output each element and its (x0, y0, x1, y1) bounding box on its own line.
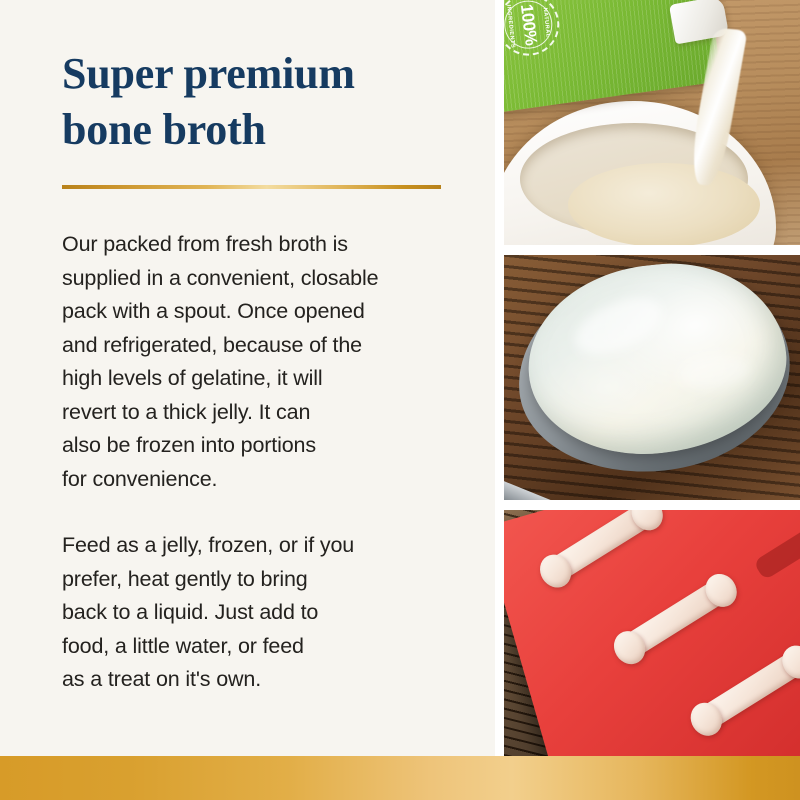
paragraph-product-description: Our packed from fresh broth is supplied … (62, 228, 462, 496)
photo-bone-mould (504, 510, 800, 756)
footer-gold-bar (0, 756, 800, 800)
paragraph-line: high levels of gelatine, it will (62, 362, 462, 396)
photo-pouring-broth: NATURAL 100% INGREDIENTS (504, 0, 800, 245)
frozen-broth-bone (547, 510, 655, 582)
jelly-highlight-secondary (678, 351, 751, 392)
broth-liquid (568, 163, 760, 245)
paragraph-line: and refrigerated, because of the (62, 329, 462, 363)
paragraph-line: Feed as a jelly, frozen, or if you (62, 529, 462, 563)
gold-divider (62, 185, 441, 189)
jelly-highlight (567, 286, 670, 365)
seal-word-bottom: INGREDIENTS (505, 4, 516, 48)
natural-ingredients-seal-icon: NATURAL 100% INGREDIENTS (504, 0, 562, 59)
paragraph-line: food, a little water, or feed (62, 630, 462, 664)
photo-jelly-spoon (504, 255, 800, 500)
seal-word-top: NATURAL (542, 7, 551, 38)
paragraph-feeding-instructions: Feed as a jelly, frozen, or if you prefe… (62, 529, 462, 697)
page-root: Super premium bone broth Our packed from… (0, 0, 800, 800)
body-copy: Our packed from fresh broth is supplied … (62, 228, 462, 697)
empty-bone-slot (753, 519, 800, 580)
paragraph-line: revert to a thick jelly. It can (62, 396, 462, 430)
page-title-line-2: bone broth (62, 102, 462, 158)
seal-percent-label: 100% (515, 0, 542, 55)
paragraph-line: supplied in a convenient, closable (62, 262, 462, 296)
silicone-bone-mould-tray (504, 510, 800, 756)
paragraph-line: pack with a spout. Once opened (62, 295, 462, 329)
frozen-broth-bone (621, 578, 729, 659)
paragraph-line: also be frozen into portions (62, 429, 462, 463)
paragraph-line: prefer, heat gently to bring (62, 563, 462, 597)
empty-bone-slot (685, 510, 778, 511)
paragraph-line: for convenience. (62, 463, 462, 497)
paragraph-line: Our packed from fresh broth is (62, 228, 462, 262)
page-title: Super premium bone broth (62, 46, 462, 158)
photo-column: NATURAL 100% INGREDIENTS (504, 0, 800, 756)
text-panel: Super premium bone broth Our packed from… (0, 0, 495, 756)
page-title-line-1: Super premium (62, 46, 462, 102)
frozen-broth-bone (698, 650, 800, 731)
paragraph-line: as a treat on it's own. (62, 663, 462, 697)
paragraph-line: back to a liquid. Just add to (62, 596, 462, 630)
